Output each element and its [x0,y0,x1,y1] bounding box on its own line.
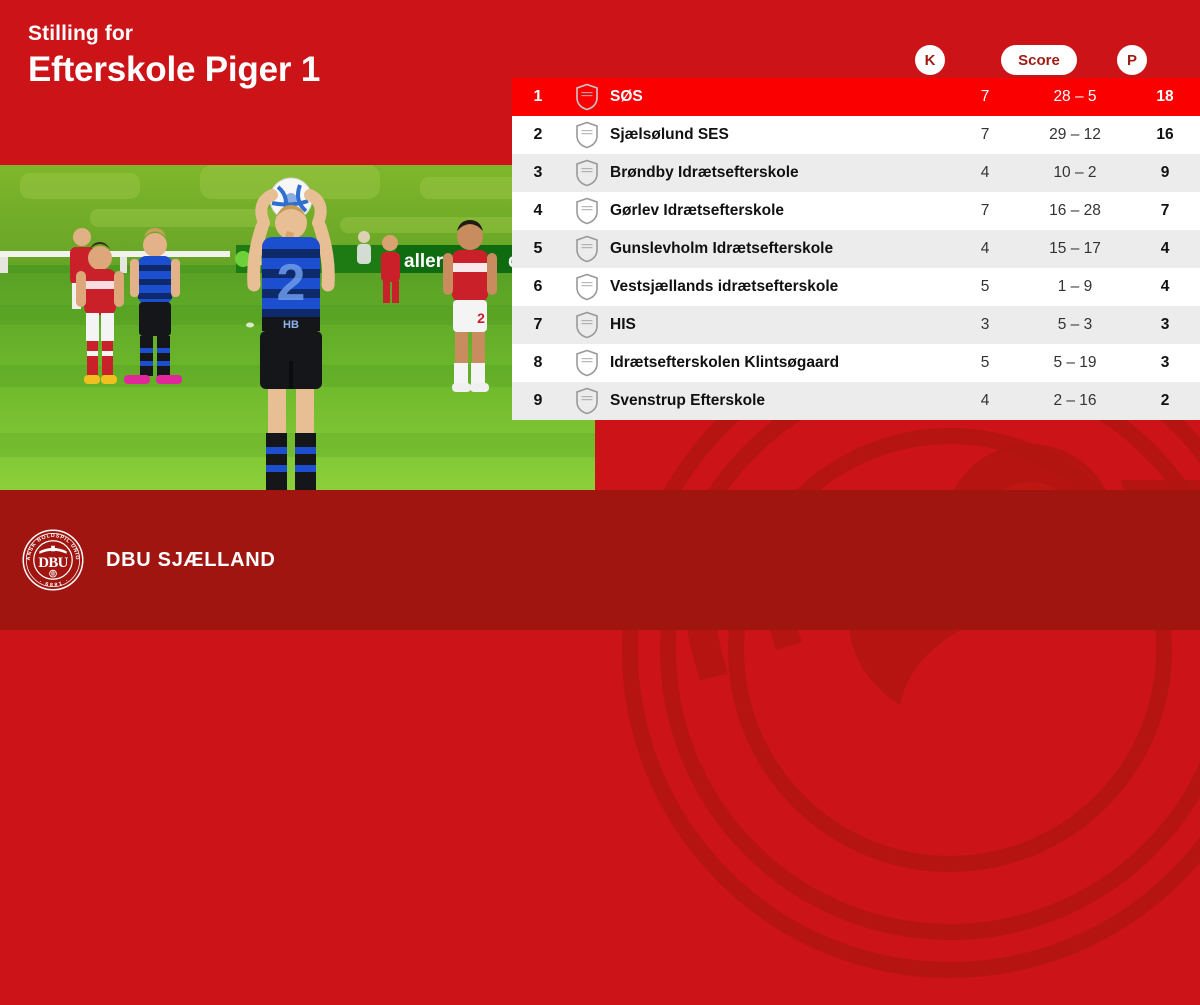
svg-text:DBU: DBU [38,555,68,571]
row-position: 5 [512,240,564,258]
row-points: 4 [1130,240,1200,258]
row-position: 9 [512,392,564,410]
row-points: 9 [1130,164,1200,182]
row-team-name: Vestsjællands idrætsefterskole [610,278,950,296]
table-column-headers: K Score P [512,45,1200,78]
svg-text:· 1889 ·: · 1889 · [38,577,69,587]
row-team-name: Sjælsølund SES [610,126,950,144]
row-played: 3 [950,316,1020,334]
table-row[interactable]: 8 Idrætsefterskolen Klintsøgaard 5 5 – 1… [512,344,1200,382]
shield-crest-icon [564,83,610,111]
row-played: 7 [950,202,1020,220]
row-position: 8 [512,354,564,372]
row-points: 3 [1130,354,1200,372]
row-team-name: Idrætsefterskolen Klintsøgaard [610,354,950,372]
table-row[interactable]: 2 Sjælsølund SES 7 29 – 12 16 [512,116,1200,154]
table-row[interactable]: 5 Gunslevholm Idrætsefterskole 4 15 – 17… [512,230,1200,268]
row-points: 16 [1130,126,1200,144]
row-played: 4 [950,164,1020,182]
shield-crest-icon [564,121,610,149]
svg-text:2: 2 [277,254,306,312]
row-score: 5 – 19 [1020,354,1130,372]
footer-label: DBU SJÆLLAND [106,549,276,572]
row-score: 1 – 9 [1020,278,1130,296]
row-played: 4 [950,392,1020,410]
svg-text:2: 2 [477,310,485,326]
standings-table: 1 SØS 7 28 – 5 18 2 Sjælsølund SES 7 29 … [512,78,1200,420]
row-points: 3 [1130,316,1200,334]
row-score: 10 – 2 [1020,164,1130,182]
row-team-name: HIS [610,316,950,334]
table-row[interactable]: 9 Svenstrup Efterskole 4 2 – 16 2 [512,382,1200,420]
row-played: 7 [950,126,1020,144]
row-score: 5 – 3 [1020,316,1130,334]
shield-crest-icon [564,159,610,187]
row-points: 2 [1130,392,1200,410]
row-team-name: SØS [610,88,950,106]
row-score: 15 – 17 [1020,240,1130,258]
column-header-played: K [915,45,945,75]
row-score: 29 – 12 [1020,126,1130,144]
row-position: 3 [512,164,564,182]
row-score: 2 – 16 [1020,392,1130,410]
row-played: 7 [950,88,1020,106]
row-team-name: Gunslevholm Idrætsefterskole [610,240,950,258]
row-position: 2 [512,126,564,144]
row-team-name: Svenstrup Efterskole [610,392,950,410]
row-score: 28 – 5 [1020,88,1130,106]
row-position: 1 [512,88,564,106]
row-team-name: Gørlev Idrætsefterskole [610,202,950,220]
shield-crest-icon [564,235,610,263]
shield-crest-icon [564,273,610,301]
header-kicker: Stilling for [28,22,133,46]
row-position: 6 [512,278,564,296]
row-points: 18 [1130,88,1200,106]
row-points: 4 [1130,278,1200,296]
row-team-name: Brøndby Idrætsefterskole [610,164,950,182]
shield-crest-icon [564,387,610,415]
svg-text:HB: HB [283,319,299,331]
shield-crest-icon [564,349,610,377]
shield-crest-icon [564,311,610,339]
column-header-score: Score [1001,45,1077,75]
row-score: 16 – 28 [1020,202,1130,220]
page-title: Efterskole Piger 1 [28,50,320,90]
table-row[interactable]: 3 Brøndby Idrætsefterskole 4 10 – 2 9 [512,154,1200,192]
row-played: 5 [950,354,1020,372]
match-photo: MCES allerup de [0,165,595,490]
footer: DANSK BOLDSPIL UNION · 1889 · DBU DBU SJ… [0,490,1200,630]
dbu-seal-logo: DANSK BOLDSPIL UNION · 1889 · DBU [22,529,84,591]
row-position: 7 [512,316,564,334]
table-row[interactable]: 1 SØS 7 28 – 5 18 [512,78,1200,116]
table-row[interactable]: 4 Gørlev Idrætsefterskole 7 16 – 28 7 [512,192,1200,230]
table-row[interactable]: 6 Vestsjællands idrætsefterskole 5 1 – 9… [512,268,1200,306]
row-played: 5 [950,278,1020,296]
row-played: 4 [950,240,1020,258]
seal-year-text: · 1889 · [38,577,69,587]
shield-crest-icon [564,197,610,225]
table-row[interactable]: 7 HIS 3 5 – 3 3 [512,306,1200,344]
column-header-points: P [1117,45,1147,75]
row-position: 4 [512,202,564,220]
row-points: 7 [1130,202,1200,220]
